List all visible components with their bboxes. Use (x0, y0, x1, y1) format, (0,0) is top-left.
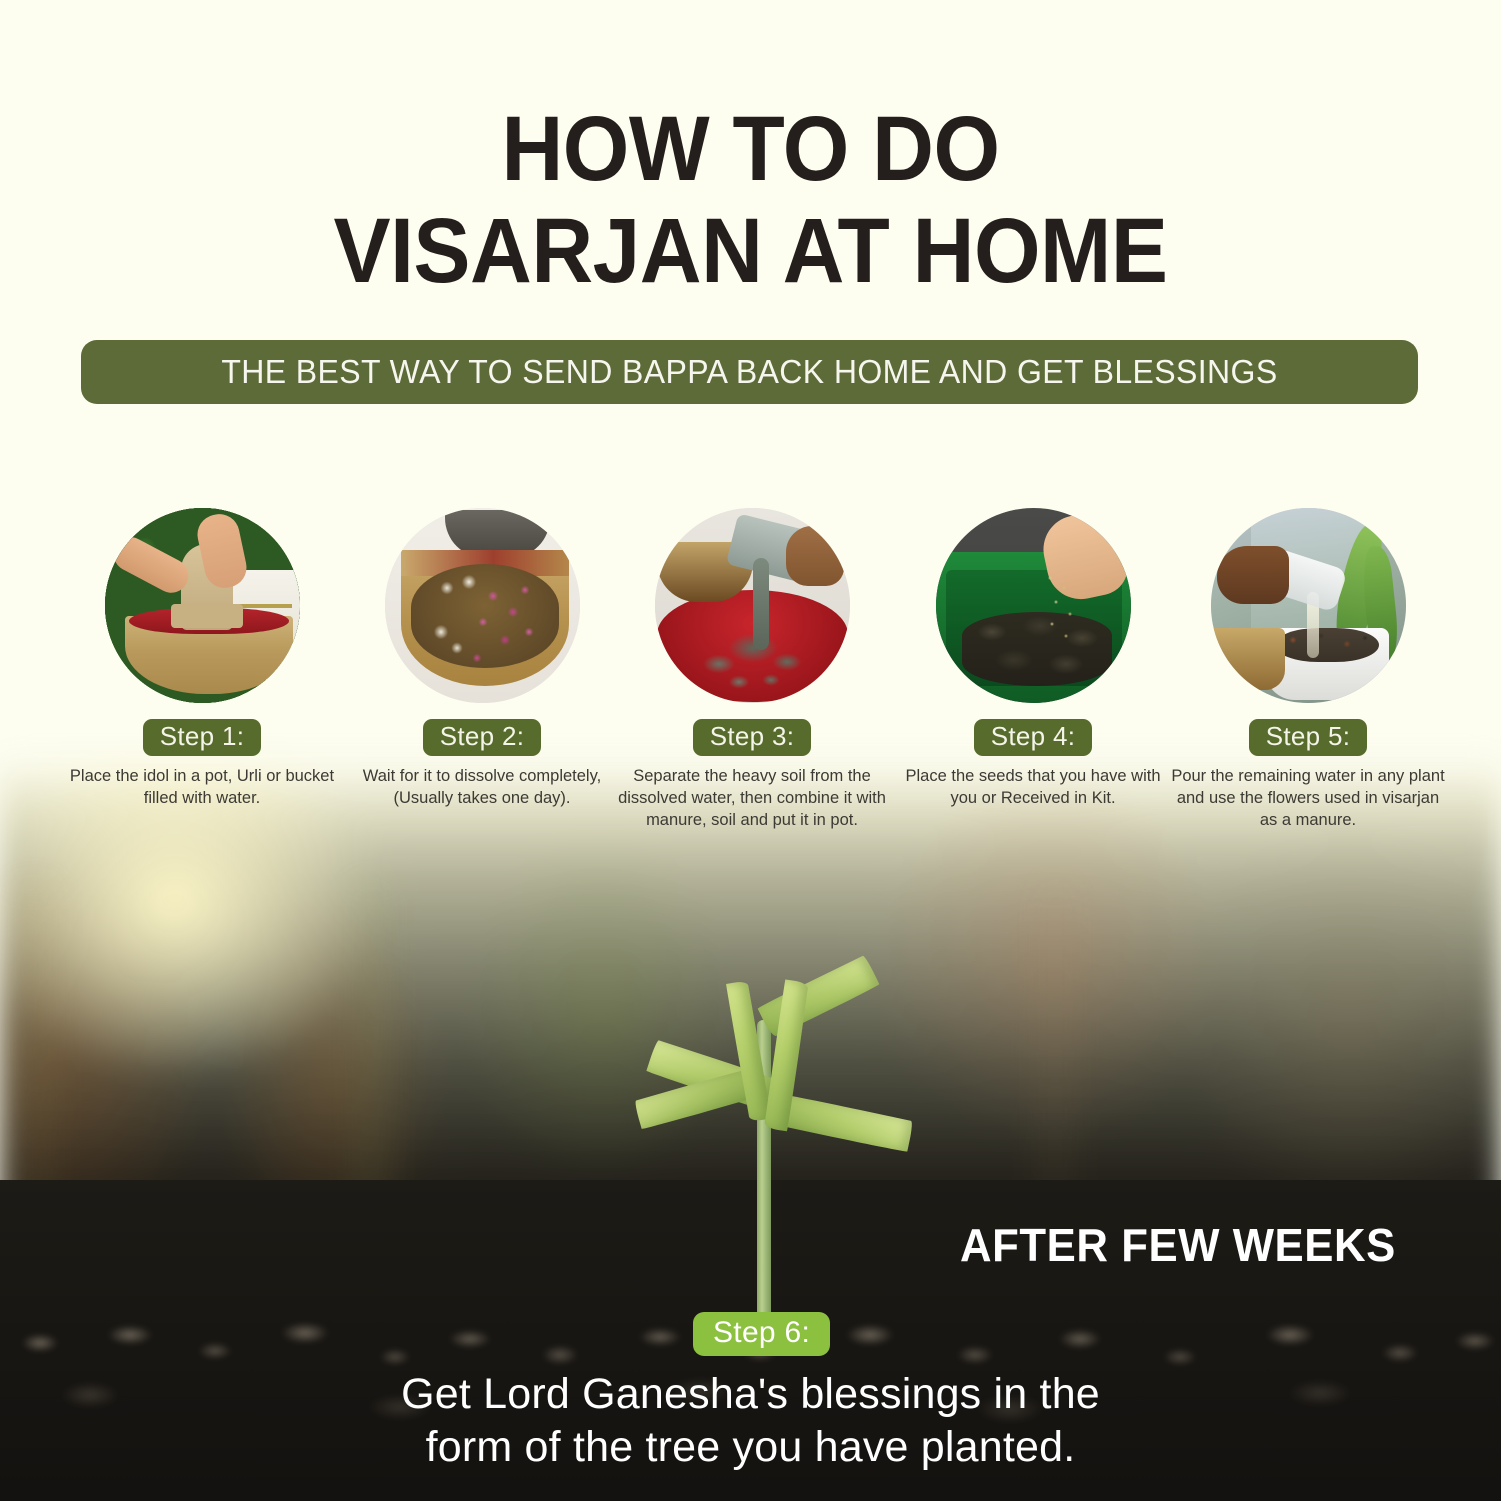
step-2-image (385, 508, 580, 703)
infographic-poster: HOW TO DO VISARJAN AT HOME THE BEST WAY … (0, 0, 1501, 1501)
step-5-image (1211, 508, 1406, 703)
step-item-1: Step 1: Place the idol in a pot, Urli or… (57, 508, 347, 809)
step-4-image (936, 508, 1131, 703)
step-3-caption: Separate the heavy soil from the dissolv… (607, 765, 897, 831)
seedling-leaf-right-upper (757, 955, 880, 1038)
step-1-badge: Step 1: (143, 719, 262, 756)
step-4-caption: Place the seeds that you have with you o… (888, 765, 1178, 809)
step-6-caption: Get Lord Ganesha's blessings in the form… (0, 1368, 1501, 1475)
step-2-caption: Wait for it to dissolve completely, (Usu… (337, 765, 627, 809)
step-6-caption-line-1: Get Lord Ganesha's blessings in the (401, 1370, 1100, 1418)
step-item-5: Step 5: Pour the remaining water in any … (1163, 508, 1453, 831)
step-item-3: Step 3: Separate the heavy soil from the… (607, 508, 897, 831)
step-1-image (105, 508, 300, 703)
step-3-badge: Step 3: (693, 719, 812, 756)
step-5-badge: Step 5: (1249, 719, 1368, 756)
step-6-caption-line-2: form of the tree you have planted. (426, 1423, 1076, 1471)
step-4-badge: Step 4: (974, 719, 1093, 756)
step-item-4: Step 4: Place the seeds that you have wi… (888, 508, 1178, 809)
seedling-leaf-right-lower (772, 1093, 914, 1153)
step-1-caption: Place the idol in a pot, Urli or bucket … (57, 765, 347, 809)
step-6-badge: Step 6: (693, 1312, 830, 1356)
step-3-image (655, 508, 850, 703)
step-5-caption: Pour the remaining water in any plant an… (1163, 765, 1453, 831)
step-item-2: Step 2: Wait for it to dissolve complete… (337, 508, 627, 809)
after-few-weeks-label: AFTER FEW WEEKS (960, 1218, 1396, 1272)
step-2-badge: Step 2: (423, 719, 542, 756)
